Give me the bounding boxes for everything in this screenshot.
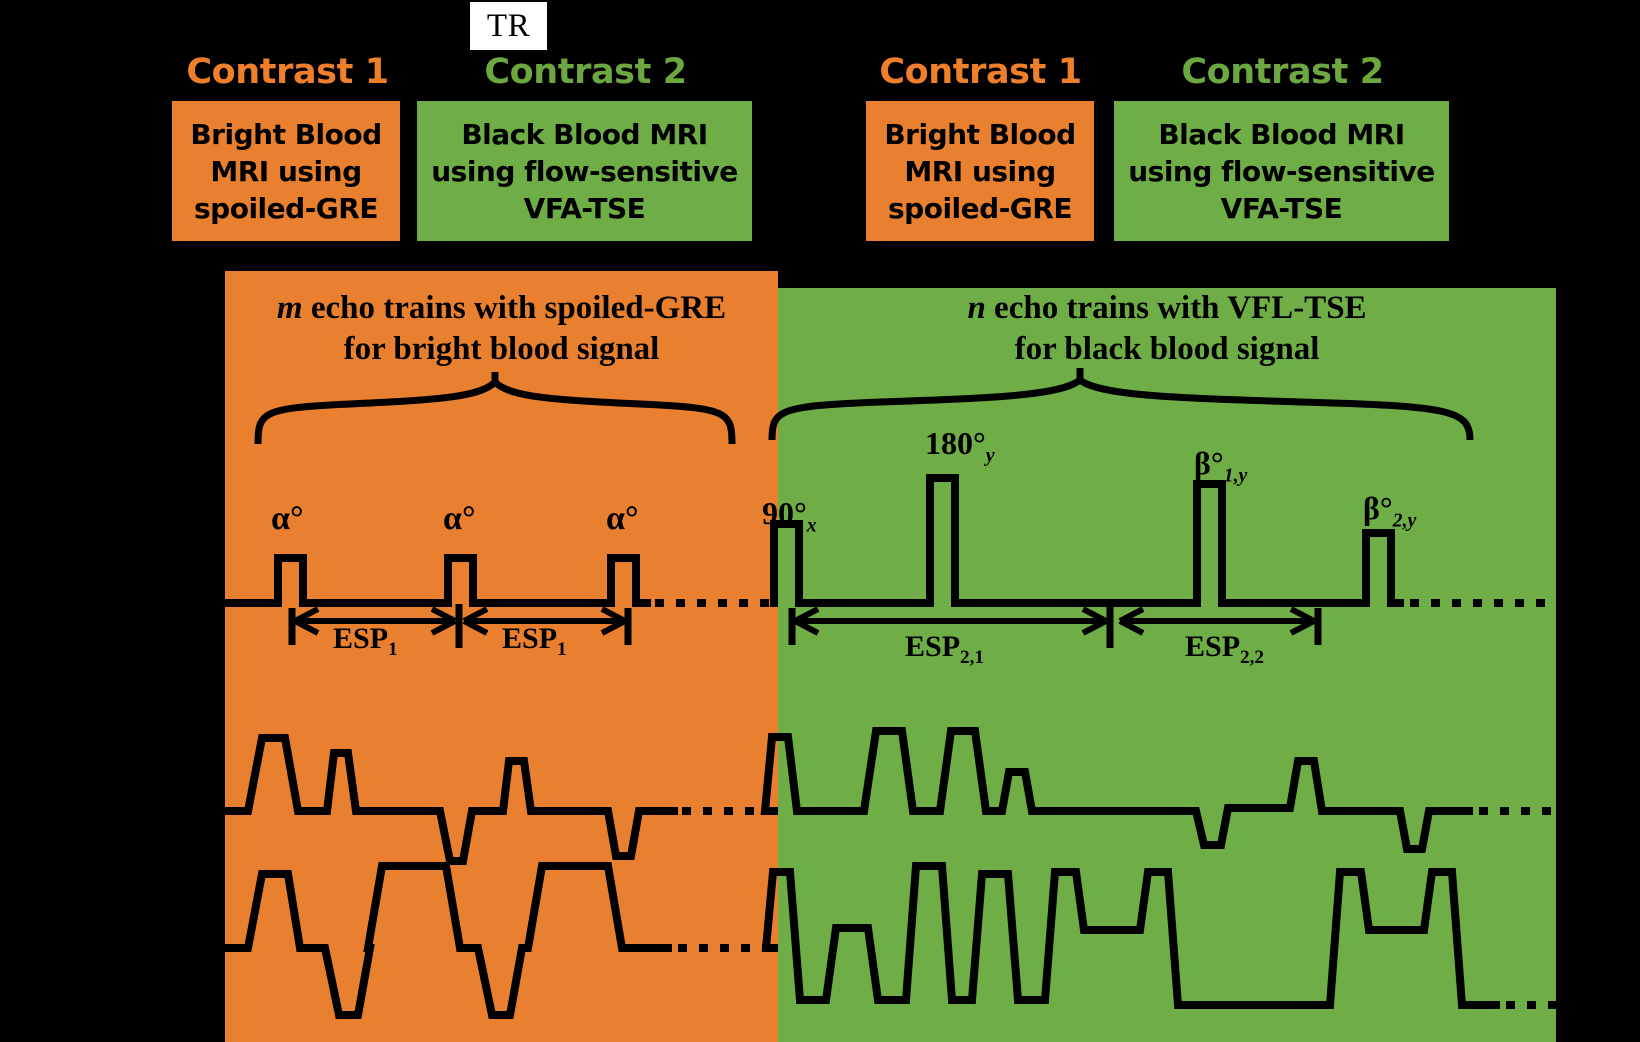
black2-line-1: Black Blood MRI xyxy=(1158,118,1404,151)
rf-90-sub: x xyxy=(807,514,817,536)
esp-21-sub: 2,1 xyxy=(960,647,984,668)
bright2-line-3: spoiled-GRE xyxy=(888,192,1072,225)
bright2-line-2: MRI using xyxy=(904,155,1055,188)
rf-label-beta-1y: β°1,y xyxy=(1194,445,1247,487)
figure-canvas: TR Contrast 1 Contrast 2 Contrast 1 Cont… xyxy=(0,0,1640,1042)
panel-contrast2-vfl-tse xyxy=(778,288,1556,1042)
contrast-title-3: Contrast 1 xyxy=(873,52,1088,92)
rf-beta2-sub: 2,y xyxy=(1393,509,1417,531)
rf-label-beta-2y: β°2,y xyxy=(1363,490,1416,532)
esp-21-main: ESP xyxy=(905,630,960,663)
tr-label: TR xyxy=(470,2,547,50)
rf-90-main: 90° xyxy=(762,495,807,531)
esp-22-main: ESP xyxy=(1185,630,1240,663)
esp-22-sub: 2,2 xyxy=(1240,647,1264,668)
bright2-line-1: Bright Blood xyxy=(884,118,1075,151)
black2-line-3: VFA-TSE xyxy=(1221,192,1343,225)
esp-label-1b: ESP1 xyxy=(502,622,567,661)
esp-1a-sub: 1 xyxy=(388,639,398,660)
esp-label-1a: ESP1 xyxy=(333,622,398,661)
header-box-black-blood-2: Black Blood MRI using flow-sensitive VFA… xyxy=(1114,101,1449,241)
contrast-title-4: Contrast 2 xyxy=(1115,52,1450,92)
contrast-title-2: Contrast 2 xyxy=(418,52,753,92)
esp-1b-main: ESP xyxy=(502,622,557,655)
orange-caption-rest: echo trains with spoiled-GRE xyxy=(303,290,727,326)
rf-beta1-main: β° xyxy=(1194,445,1224,481)
panel-caption-green: n echo trains with VFL-TSE for black blo… xyxy=(778,288,1556,370)
rf-label-alpha-2: α° xyxy=(443,500,476,538)
rf-label-alpha-3: α° xyxy=(606,500,639,538)
orange-caption-line2: for bright blood signal xyxy=(344,331,660,367)
esp-1a-main: ESP xyxy=(333,622,388,655)
rf-180-main: 180° xyxy=(925,425,986,461)
esp-label-22: ESP2,2 xyxy=(1185,630,1264,669)
header-box-black-blood-1: Black Blood MRI using flow-sensitive VFA… xyxy=(417,101,752,241)
green-caption-line2: for black blood signal xyxy=(1015,331,1320,367)
rf-label-180y: 180°y xyxy=(925,425,995,467)
header-box-bright-blood-1: Bright Blood MRI using spoiled-GRE xyxy=(172,101,400,241)
contrast-title-1: Contrast 1 xyxy=(180,52,395,92)
green-caption-rest: echo trains with VFL-TSE xyxy=(986,290,1367,326)
bright-line-2: MRI using xyxy=(210,155,361,188)
header-box-bright-blood-2: Bright Blood MRI using spoiled-GRE xyxy=(866,101,1094,241)
rf-180-sub: y xyxy=(986,444,995,466)
rf-label-alpha-1: α° xyxy=(271,500,304,538)
orange-caption-symbol: m xyxy=(277,290,303,326)
bright-line-1: Bright Blood xyxy=(190,118,381,151)
rf-beta2-main: β° xyxy=(1363,490,1393,526)
esp-label-21: ESP2,1 xyxy=(905,630,984,669)
black-line-3: VFA-TSE xyxy=(524,192,646,225)
bright-line-3: spoiled-GRE xyxy=(194,192,378,225)
black-line-1: Black Blood MRI xyxy=(461,118,707,151)
black2-line-2: using flow-sensitive xyxy=(1128,155,1435,188)
esp-1b-sub: 1 xyxy=(557,639,567,660)
panel-caption-orange: m echo trains with spoiled-GRE for brigh… xyxy=(225,288,778,370)
rf-beta1-sub: 1,y xyxy=(1224,464,1248,486)
green-caption-symbol: n xyxy=(967,290,985,326)
black-line-2: using flow-sensitive xyxy=(431,155,738,188)
rf-label-90x: 90°x xyxy=(762,495,817,537)
